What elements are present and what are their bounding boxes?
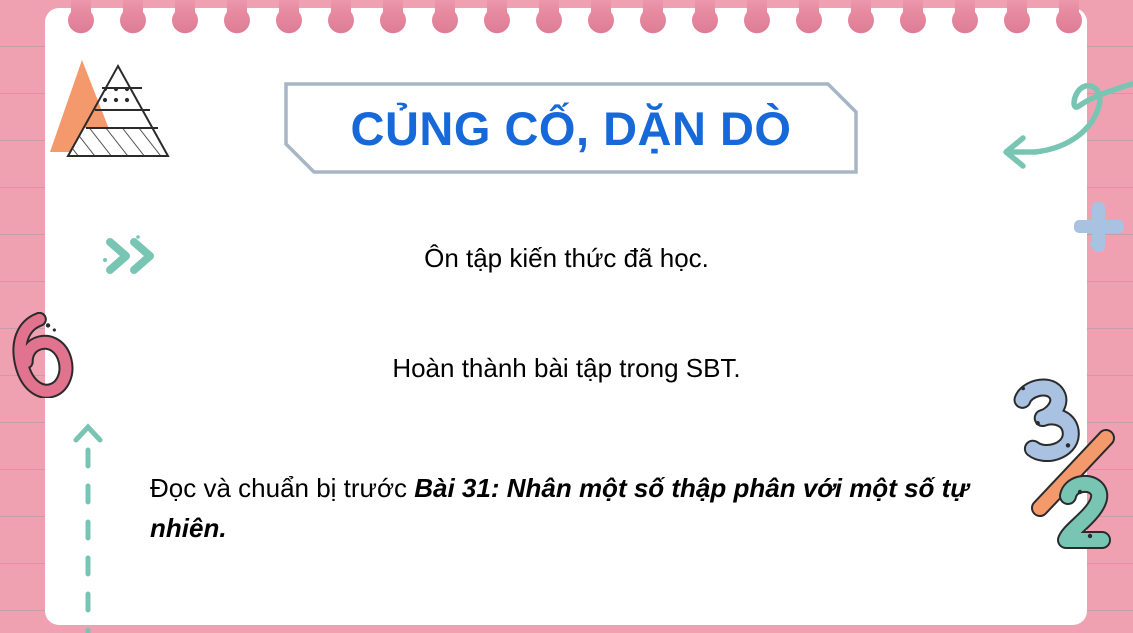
spiral-binding [45,0,1087,60]
content-line-3-lead: Đọc và chuẩn bị trước [150,473,414,503]
content-line-3: Đọc và chuẩn bị trước Bài 31: Nhân một s… [150,468,990,549]
double-chevron-right-icon [100,230,162,282]
numeral-6 [8,312,74,398]
dashed-up-arrow-icon [60,418,118,633]
triangle-shapes [46,52,196,192]
page-title: CỦNG CỐ, DẶN DÒ [284,82,858,174]
title-plate: CỦNG CỐ, DẶN DÒ [284,82,858,174]
numeral-2 [1066,484,1102,540]
content-line-2: Hoàn thành bài tập trong SBT. [0,348,1133,388]
numeral-cluster [1008,378,1133,550]
numeral-3 [1020,379,1074,456]
curly-left-arrow-icon [975,78,1133,208]
plus-icon [1068,196,1130,258]
content-line-1: Ôn tập kiến thức đã học. [0,238,1133,278]
